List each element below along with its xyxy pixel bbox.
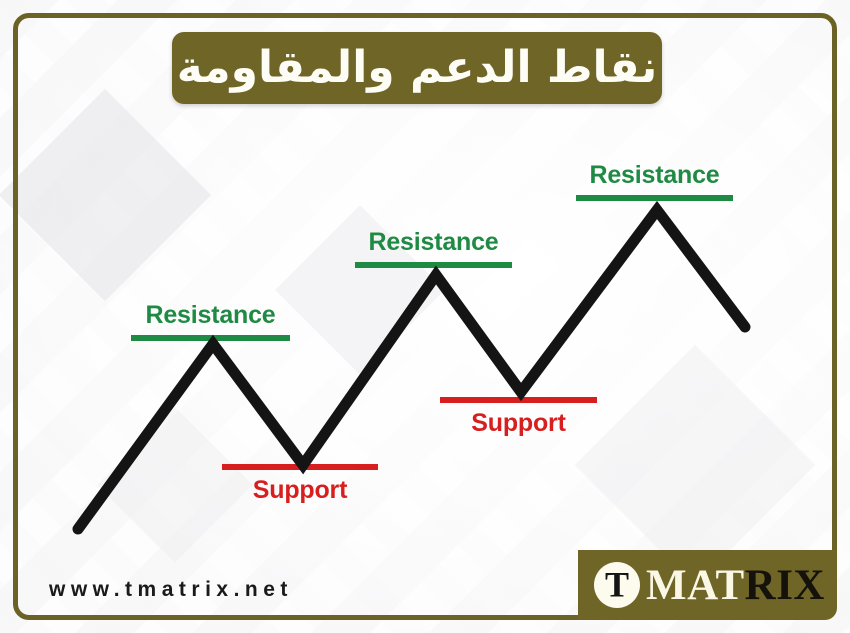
support-resistance-chart bbox=[0, 0, 850, 633]
price-zigzag-line bbox=[78, 210, 745, 529]
brand-name-dark-segment: RIX bbox=[745, 562, 825, 609]
support-label-2: Support bbox=[440, 411, 597, 436]
support-label-1: Support bbox=[222, 478, 378, 503]
resistance-label-2: Resistance bbox=[355, 230, 512, 255]
brand-name: MATRIX bbox=[646, 564, 825, 607]
tmatrix-circle-icon: T bbox=[594, 562, 640, 608]
brand-name-light-segment: MAT bbox=[646, 562, 745, 609]
infographic-canvas: نقاط الدعم والمقاومة Resistance Support … bbox=[0, 0, 850, 633]
resistance-label-3: Resistance bbox=[576, 163, 733, 188]
website-url: www.tmatrix.net bbox=[49, 578, 293, 602]
logo-t-letter: T bbox=[605, 566, 629, 602]
resistance-label-1: Resistance bbox=[131, 303, 290, 328]
brand-logo: T MATRIX bbox=[578, 550, 837, 620]
